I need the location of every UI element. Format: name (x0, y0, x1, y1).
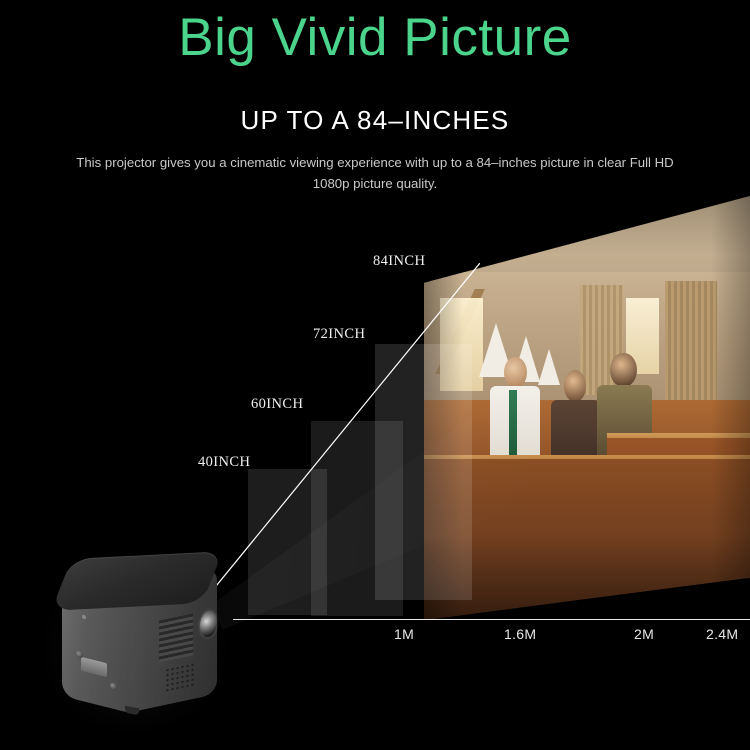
projected-screen-image (424, 196, 750, 620)
distance-label-1-6m: 1.6M (504, 626, 536, 642)
distance-label-1m: 1M (394, 626, 414, 642)
projection-diagram: 84INCH 72INCH 60INCH 40INCH 1M 1.6M 2M 2… (0, 0, 750, 750)
size-label-60inch: 60INCH (251, 396, 303, 413)
size-panel-72inch (375, 344, 472, 600)
projector-device (55, 555, 240, 740)
distance-label-2m: 2M (634, 626, 654, 642)
projector-foot (125, 706, 139, 715)
size-label-40inch: 40INCH (198, 454, 250, 471)
vent-slots-icon (159, 613, 193, 662)
distance-axis-line (233, 619, 750, 620)
indicator-dot-icon (82, 615, 86, 620)
distance-label-2-4m: 2.4M (706, 626, 738, 642)
product-feature-page: Big Vivid Picture UP TO A 84–INCHES This… (0, 0, 750, 750)
photo-vignette (424, 196, 750, 620)
size-label-84inch: 84INCH (373, 253, 425, 270)
size-label-72inch: 72INCH (313, 326, 365, 343)
